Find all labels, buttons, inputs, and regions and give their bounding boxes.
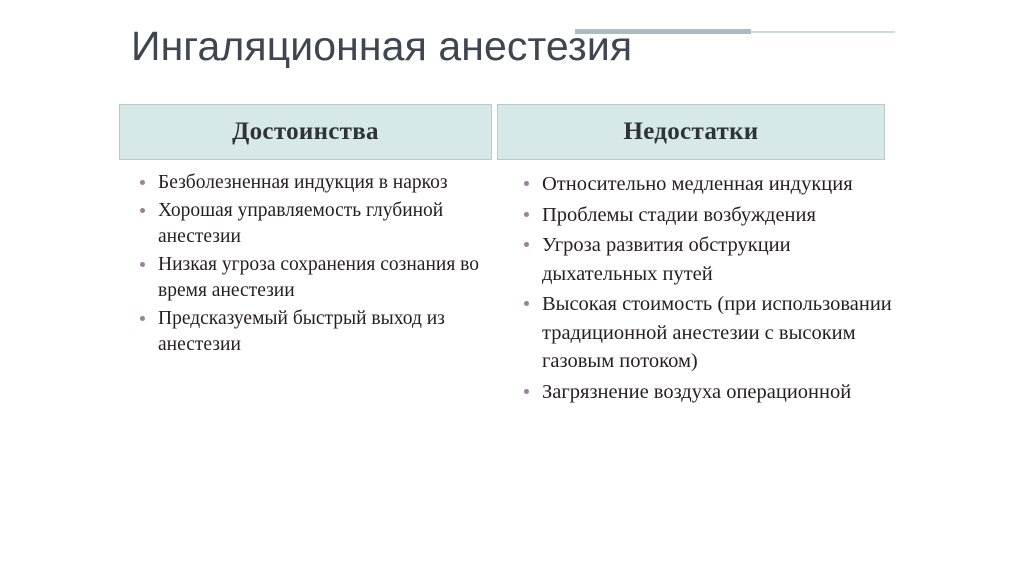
list-item-text: Безболезненная индукция в наркоз [158, 172, 448, 193]
list-item-text: Угроза развития обструкции дыхательных п… [542, 234, 791, 285]
bullet-dot-icon [140, 208, 145, 213]
bullet-dot-icon [524, 242, 529, 247]
list-item: Высокая стоимость (при использовании тра… [521, 290, 893, 376]
list-item: Предсказуемый быстрый выход из анестезии [137, 306, 497, 358]
list-item: Низкая угроза сохранения сознания во вре… [137, 252, 497, 304]
bullet-dot-icon [140, 316, 145, 321]
title-accent-rule [575, 29, 751, 34]
bullet-dot-icon [524, 212, 529, 217]
list-item: Загрязнение воздуха операционной [521, 378, 893, 407]
bullet-dot-icon [140, 262, 145, 267]
table-header-disadvantages-label: Недостатки [624, 118, 759, 146]
table-header-disadvantages: Недостатки [497, 104, 885, 160]
list-item: Безболезненная индукция в наркоз [137, 170, 497, 196]
list-item-text: Высокая стоимость (при использовании тра… [542, 293, 892, 372]
bullet-dot-icon [140, 180, 145, 185]
list-item-text: Предсказуемый быстрый выход из анестезии [158, 308, 445, 355]
list-item: Относительно медленная индукция [521, 170, 893, 199]
list-item: Хорошая управляемость глубиной анестезии [137, 198, 497, 250]
list-item: Проблемы стадии возбуждения [521, 201, 893, 230]
list-item: Угроза развития обструкции дыхательных п… [521, 231, 893, 288]
list-item-text: Проблемы стадии возбуждения [542, 204, 816, 226]
list-item-text: Относительно медленная индукция [542, 173, 853, 195]
title-accent-rule-thin [751, 31, 895, 33]
table-header-advantages-label: Достоинства [232, 118, 379, 146]
advantages-column: Безболезненная индукция в наркоз Хорошая… [137, 170, 497, 360]
bullet-dot-icon [524, 181, 529, 186]
list-item-text: Хорошая управляемость глубиной анестезии [158, 200, 443, 247]
disadvantages-column: Относительно медленная индукция Проблемы… [521, 170, 893, 408]
advantages-list: Безболезненная индукция в наркоз Хорошая… [137, 170, 497, 358]
bullet-dot-icon [524, 301, 529, 306]
table-header-advantages: Достоинства [119, 104, 492, 160]
list-item-text: Низкая угроза сохранения сознания во вре… [158, 254, 479, 301]
page-title: Ингаляционная анестезия [131, 21, 632, 71]
list-item-text: Загрязнение воздуха операционной [542, 381, 851, 403]
title-block: Ингаляционная анестезия [0, 0, 1024, 96]
disadvantages-list: Относительно медленная индукция Проблемы… [521, 170, 893, 406]
bullet-dot-icon [524, 389, 529, 394]
slide: Ингаляционная анестезия Достоинства Недо… [0, 0, 1024, 574]
